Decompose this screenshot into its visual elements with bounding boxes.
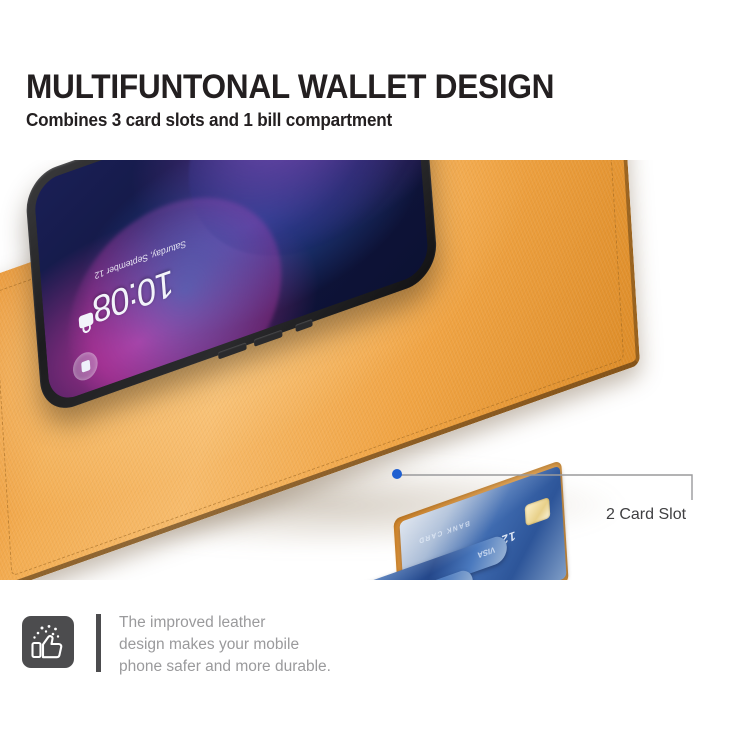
feature-line-1: The improved leather xyxy=(119,612,331,634)
product-marketing-image: MULTIFUNTONAL WALLET DESIGN Combines 3 c… xyxy=(0,0,750,750)
vertical-divider xyxy=(96,614,101,672)
page-subtitle: Combines 3 card slots and 1 bill compart… xyxy=(26,110,392,131)
feature-text: The improved leather design makes your m… xyxy=(119,612,331,678)
feature-line-2: design makes your mobile xyxy=(119,634,331,656)
callout-label: 2 Card Slot xyxy=(606,506,686,524)
feature-line-3: phone safer and more durable. xyxy=(119,656,331,678)
page-title: MULTIFUNTONAL WALLET DESIGN xyxy=(26,68,554,107)
feature-block: The improved leather design makes your m… xyxy=(22,612,331,678)
card-mark: VISA xyxy=(443,578,461,580)
thumbs-up-icon xyxy=(22,616,74,668)
card-mark: VISA xyxy=(477,544,495,560)
